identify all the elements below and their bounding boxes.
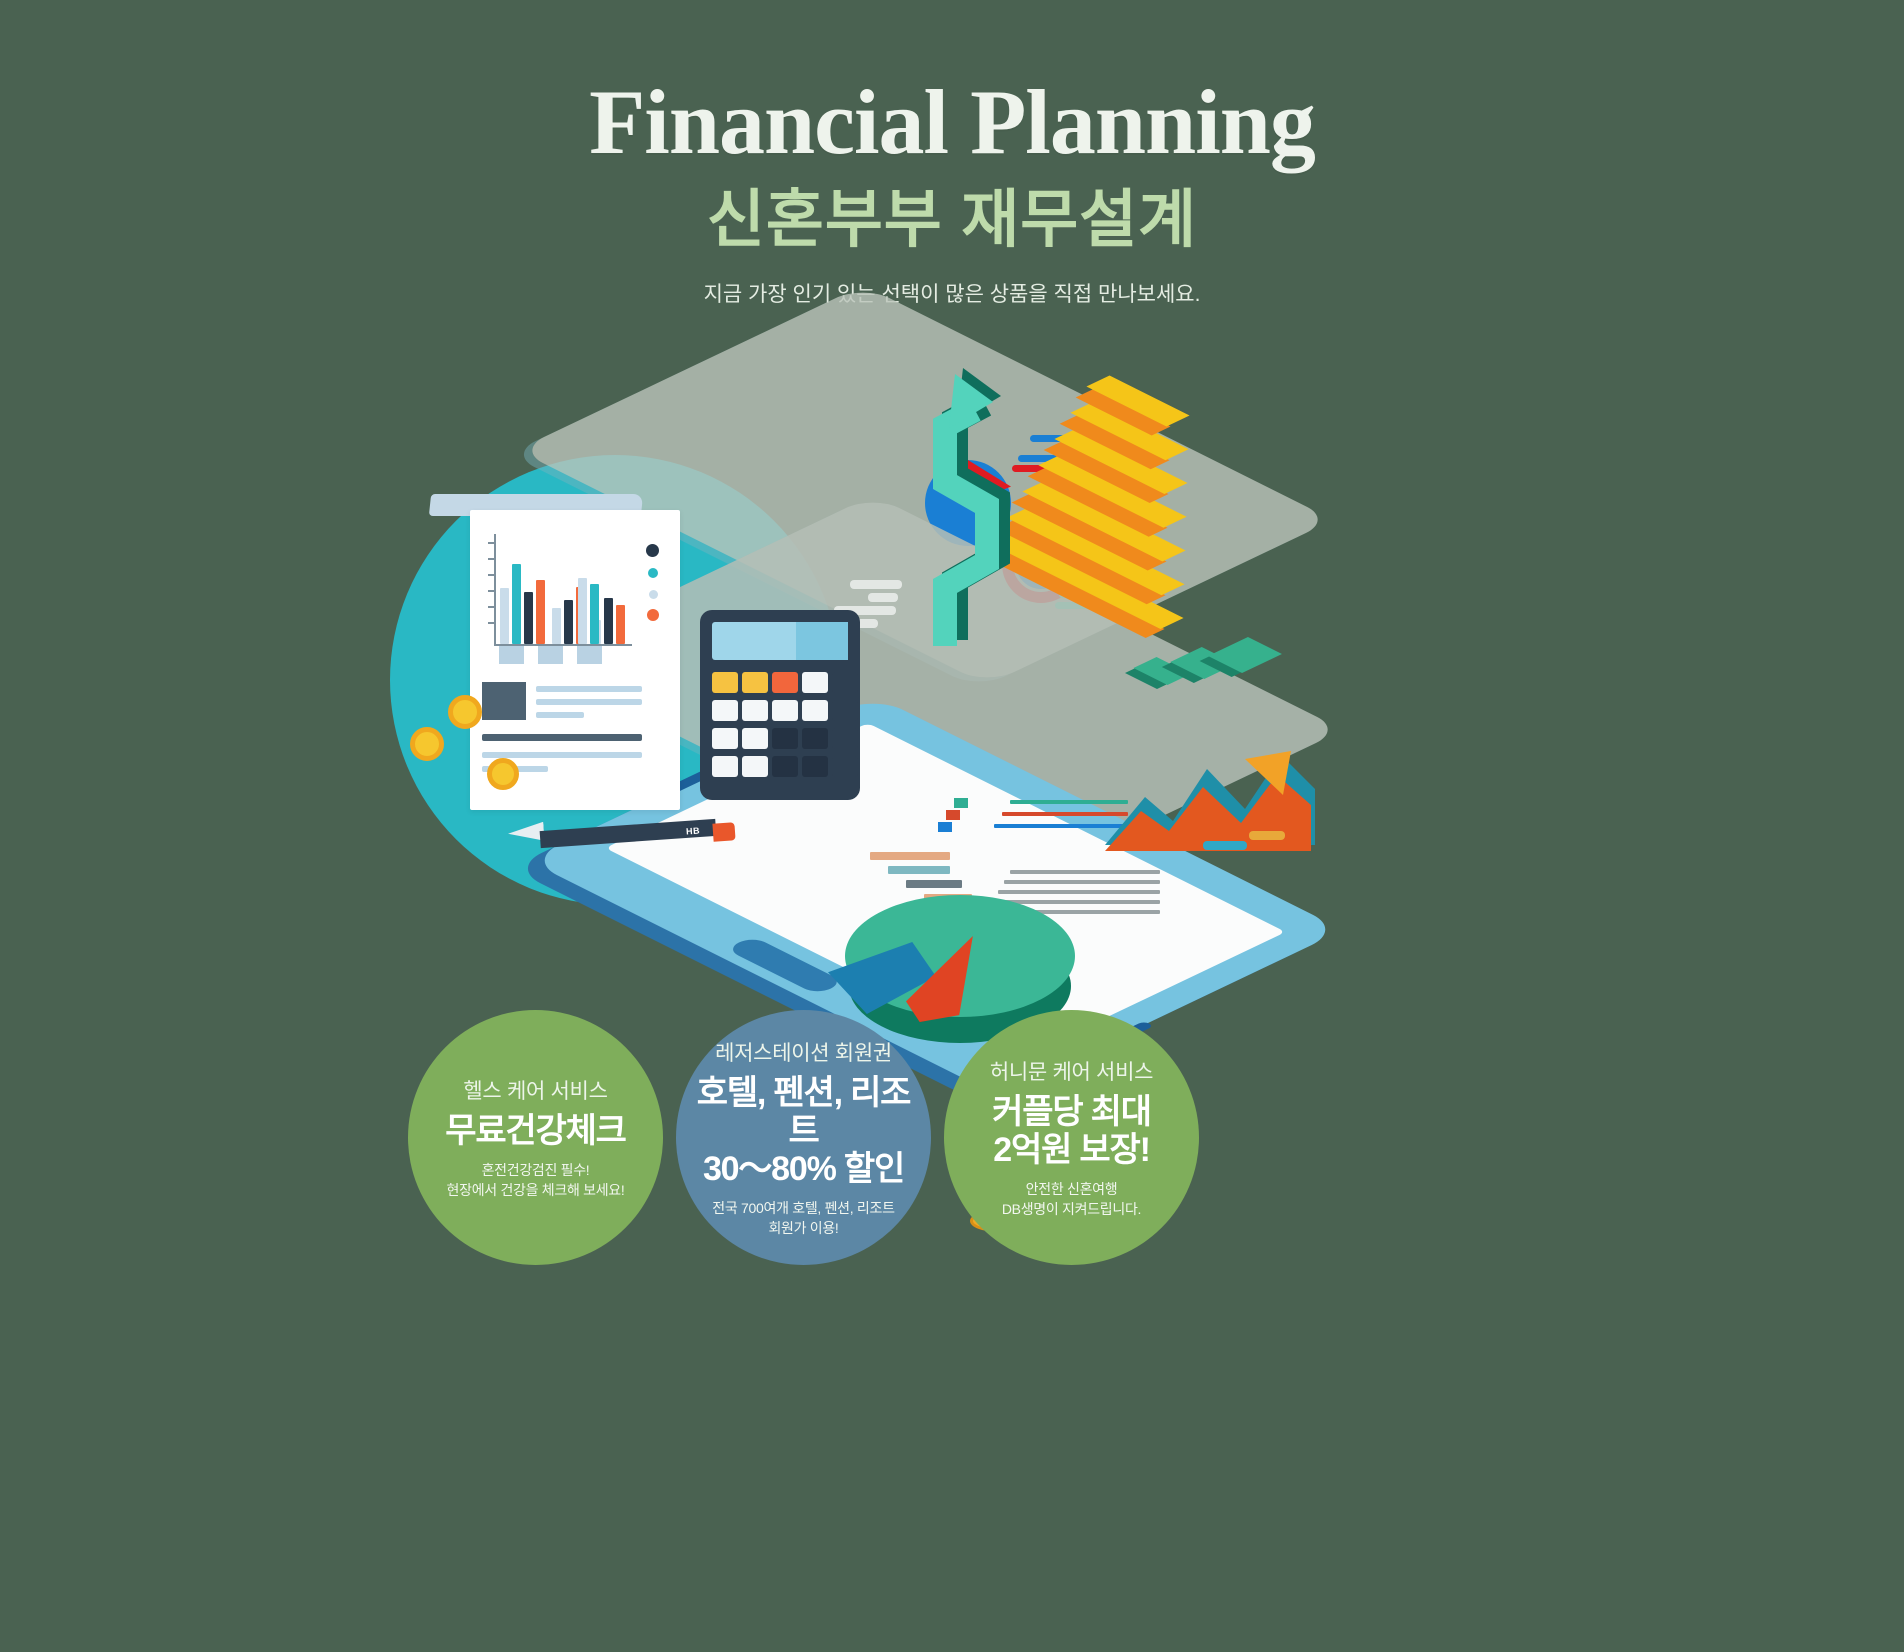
feature-kicker: 헬스 케어 서비스 bbox=[463, 1075, 607, 1105]
bar-g2-navy bbox=[564, 600, 573, 644]
coin-icon-1 bbox=[448, 695, 482, 729]
calculator-display bbox=[712, 622, 848, 660]
hero-illustration: $ bbox=[0, 330, 1904, 1010]
calculator-icon bbox=[700, 610, 860, 800]
feature-description: 혼전건강검진 필수! 현장에서 건강을 체크해 보세요! bbox=[447, 1161, 625, 1201]
bar-g1-teal bbox=[512, 564, 521, 644]
legend-dot-light bbox=[649, 590, 658, 599]
bar-g1-orange bbox=[536, 580, 545, 644]
feature-headline: 커플당 최대 2억원 보장! bbox=[992, 1093, 1151, 1169]
growth-arrow-icon bbox=[905, 350, 1105, 650]
document-thumbnail bbox=[482, 682, 526, 720]
bar-g2-light bbox=[552, 608, 561, 644]
page-title-korean: 신혼부부 재무설계 bbox=[0, 184, 1904, 256]
feature-headline: 호텔, 펜션, 리조트 30〜80% 할인 bbox=[686, 1074, 921, 1188]
legend-dot-orange bbox=[647, 609, 659, 621]
bar-g3-navy bbox=[604, 598, 613, 644]
feature-headline: 무료건강체크 bbox=[445, 1112, 625, 1150]
poster-root: Financial Planning 신혼부부 재무설계 지금 가장 인기 있는… bbox=[0, 0, 1904, 1652]
feature-kicker: 레저스테이션 회원권 bbox=[715, 1037, 892, 1067]
coin-icon-3 bbox=[487, 758, 519, 790]
bar-g1-navy bbox=[524, 592, 533, 644]
legend-dot-teal bbox=[648, 568, 658, 578]
legend-dot-navy bbox=[646, 544, 659, 557]
feature-circle-leisure[interactable]: 레저스테이션 회원권 호텔, 펜션, 리조트 30〜80% 할인 전국 700여… bbox=[676, 1010, 931, 1265]
page-title-english: Financial Planning bbox=[0, 76, 1904, 170]
feature-kicker: 허니문 케어 서비스 bbox=[990, 1056, 1153, 1086]
coin-icon-2 bbox=[410, 727, 444, 761]
poster-header: Financial Planning 신혼부부 재무설계 지금 가장 인기 있는… bbox=[0, 0, 1904, 308]
feature-circle-health[interactable]: 헬스 케어 서비스 무료건강체크 혼전건강검진 필수! 현장에서 건강을 체크해… bbox=[408, 1010, 663, 1265]
feature-circles: 헬스 케어 서비스 무료건강체크 혼전건강검진 필수! 현장에서 건강을 체크해… bbox=[0, 1000, 1904, 1270]
pencil-grade-label: HB bbox=[686, 826, 701, 837]
mountain-chart-icon bbox=[1095, 725, 1325, 865]
feature-description: 전국 700여개 호텔, 펜션, 리조트 회원가 이용! bbox=[712, 1199, 894, 1239]
page-subtitle: 지금 가장 인기 있는 선택이 많은 상품을 직접 만나보세요. bbox=[0, 278, 1904, 308]
pencil-eraser bbox=[712, 822, 735, 841]
feature-circle-honeymoon[interactable]: 허니문 케어 서비스 커플당 최대 2억원 보장! 안전한 신혼여행 DB생명이… bbox=[944, 1010, 1199, 1265]
bar-g4-light bbox=[578, 578, 587, 644]
bar-g4-teal bbox=[590, 584, 599, 644]
bar-g3-orange bbox=[616, 605, 625, 644]
feature-description: 안전한 신혼여행 DB생명이 지켜드립니다. bbox=[1002, 1180, 1141, 1220]
bar-g1-light bbox=[500, 588, 509, 644]
